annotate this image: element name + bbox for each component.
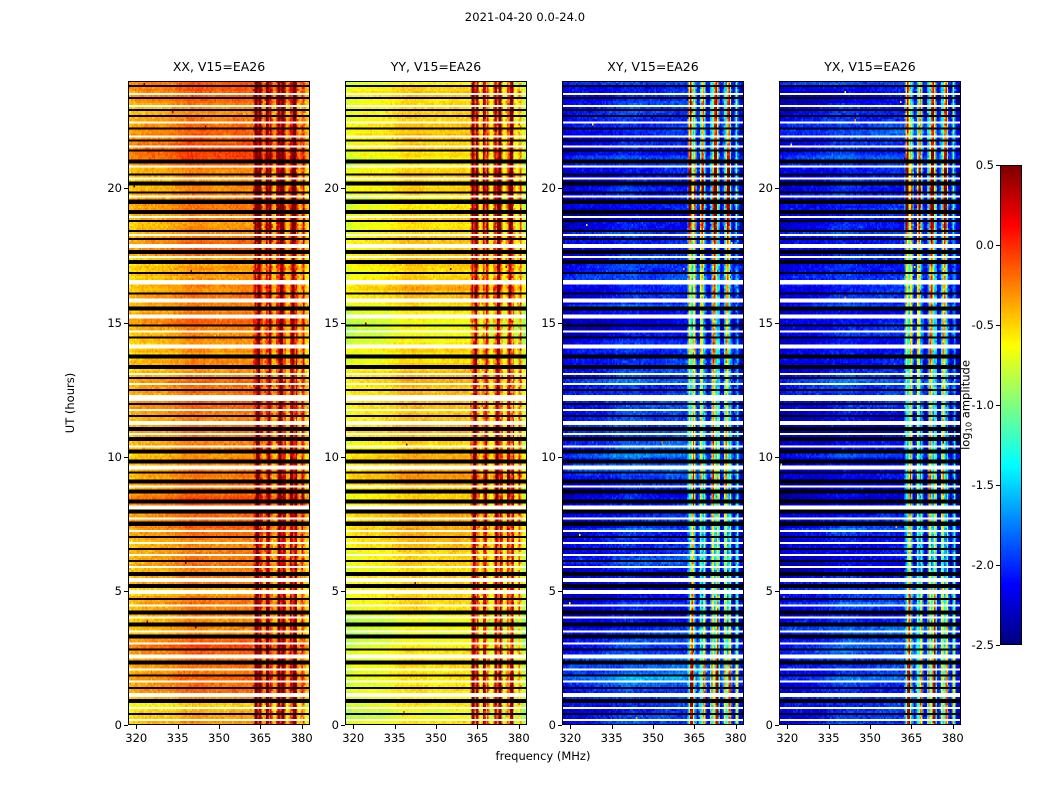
colorbar-tickmark: [996, 325, 1000, 326]
x-tick-label: 320: [342, 731, 364, 745]
colorbar-tick-label: -2.0: [958, 558, 994, 572]
y-tickmark: [775, 457, 779, 458]
y-tickmark: [558, 323, 562, 324]
y-tick-label: 5: [98, 584, 122, 598]
colorbar-gradient: [1000, 165, 1022, 645]
colorbar-tickmark: [996, 645, 1000, 646]
y-tick-label: 5: [315, 584, 339, 598]
x-tickmark: [736, 725, 737, 729]
x-tick-label: 350: [208, 731, 230, 745]
y-tick-label: 15: [315, 316, 339, 330]
heatmap-image-xx: [128, 81, 310, 725]
colorbar-tick-label: 0.0: [958, 238, 994, 252]
x-tickmark: [436, 725, 437, 729]
x-tick-label: 380: [725, 731, 747, 745]
heatmap-panel-yx: YX, V15=EA26: [779, 81, 961, 725]
x-tick-label: 365: [900, 731, 922, 745]
y-tickmark: [124, 457, 128, 458]
y-tick-label: 0: [532, 718, 556, 732]
y-tick-label: 0: [315, 718, 339, 732]
x-tickmark: [395, 725, 396, 729]
y-tick-label: 20: [315, 181, 339, 195]
y-tick-label: 0: [749, 718, 773, 732]
panel-title-yx: YX, V15=EA26: [779, 59, 961, 74]
x-tickmark: [911, 725, 912, 729]
y-tickmark: [558, 457, 562, 458]
x-tick-label: 335: [167, 731, 189, 745]
x-tick-label: 350: [642, 731, 664, 745]
y-tickmark: [341, 188, 345, 189]
heatmap-panel-xy: XY, V15=EA26: [562, 81, 744, 725]
x-tick-label: 335: [601, 731, 623, 745]
heatmap-image-xy: [562, 81, 744, 725]
heatmap-image-yy: [345, 81, 527, 725]
figure-canvas: 2021-04-20 0.0-24.0 XX, V15=EA26YY, V15=…: [0, 0, 1050, 800]
y-tick-label: 20: [98, 181, 122, 195]
y-tickmark: [775, 591, 779, 592]
y-tickmark: [124, 725, 128, 726]
y-tick-label: 20: [532, 181, 556, 195]
y-tick-label: 5: [749, 584, 773, 598]
y-tickmark: [124, 591, 128, 592]
x-tickmark: [570, 725, 571, 729]
x-tickmark: [178, 725, 179, 729]
x-tick-label: 320: [125, 731, 147, 745]
y-tick-label: 20: [749, 181, 773, 195]
y-tickmark: [558, 188, 562, 189]
colorbar-tick-label: -0.5: [958, 318, 994, 332]
colorbar-label: log10 amplitude: [958, 360, 973, 450]
y-tickmark: [775, 323, 779, 324]
colorbar: [1000, 165, 1022, 645]
panel-title-xy: XY, V15=EA26: [562, 59, 744, 74]
heatmap-panel-yy: YY, V15=EA26: [345, 81, 527, 725]
y-tickmark: [341, 725, 345, 726]
colorbar-tick-label: -1.5: [958, 478, 994, 492]
colorbar-tick-label: 0.5: [958, 158, 994, 172]
colorbar-tickmark: [996, 245, 1000, 246]
y-tick-label: 15: [749, 316, 773, 330]
y-axis-label: UT (hours): [63, 373, 77, 433]
x-tickmark: [870, 725, 871, 729]
x-tickmark: [653, 725, 654, 729]
colorbar-tick-label: -2.5: [958, 638, 994, 652]
x-tickmark: [136, 725, 137, 729]
y-tickmark: [341, 591, 345, 592]
y-tickmark: [341, 457, 345, 458]
x-tickmark: [953, 725, 954, 729]
colorbar-tickmark: [996, 565, 1000, 566]
x-axis-label: frequency (MHz): [496, 749, 591, 763]
x-tickmark: [519, 725, 520, 729]
y-tick-label: 15: [98, 316, 122, 330]
x-tickmark: [477, 725, 478, 729]
colorbar-tickmark: [996, 405, 1000, 406]
x-tick-label: 335: [818, 731, 840, 745]
x-tickmark: [612, 725, 613, 729]
y-tickmark: [341, 323, 345, 324]
x-tickmark: [694, 725, 695, 729]
heatmap-image-yx: [779, 81, 961, 725]
y-tick-label: 0: [98, 718, 122, 732]
y-tick-label: 5: [532, 584, 556, 598]
x-tick-label: 335: [384, 731, 406, 745]
y-tick-label: 10: [749, 450, 773, 464]
x-tick-label: 365: [249, 731, 271, 745]
y-tickmark: [558, 591, 562, 592]
x-tickmark: [829, 725, 830, 729]
x-tick-label: 380: [942, 731, 964, 745]
y-tick-label: 10: [532, 450, 556, 464]
y-tickmark: [558, 725, 562, 726]
x-tick-label: 320: [559, 731, 581, 745]
colorbar-tickmark: [996, 165, 1000, 166]
y-tick-label: 10: [98, 450, 122, 464]
x-tick-label: 380: [291, 731, 313, 745]
x-tickmark: [353, 725, 354, 729]
x-tick-label: 365: [683, 731, 705, 745]
x-tickmark: [260, 725, 261, 729]
x-tickmark: [219, 725, 220, 729]
panel-title-xx: XX, V15=EA26: [128, 59, 310, 74]
x-tickmark: [302, 725, 303, 729]
figure-suptitle: 2021-04-20 0.0-24.0: [0, 10, 1050, 24]
y-tick-label: 15: [532, 316, 556, 330]
x-tick-label: 380: [508, 731, 530, 745]
y-tickmark: [124, 188, 128, 189]
y-tickmark: [775, 725, 779, 726]
x-tickmark: [787, 725, 788, 729]
colorbar-tickmark: [996, 485, 1000, 486]
y-tickmark: [124, 323, 128, 324]
x-tick-label: 320: [776, 731, 798, 745]
y-tickmark: [775, 188, 779, 189]
panel-title-yy: YY, V15=EA26: [345, 59, 527, 74]
heatmap-panel-xx: XX, V15=EA26: [128, 81, 310, 725]
x-tick-label: 350: [859, 731, 881, 745]
y-tick-label: 10: [315, 450, 339, 464]
x-tick-label: 350: [425, 731, 447, 745]
x-tick-label: 365: [466, 731, 488, 745]
